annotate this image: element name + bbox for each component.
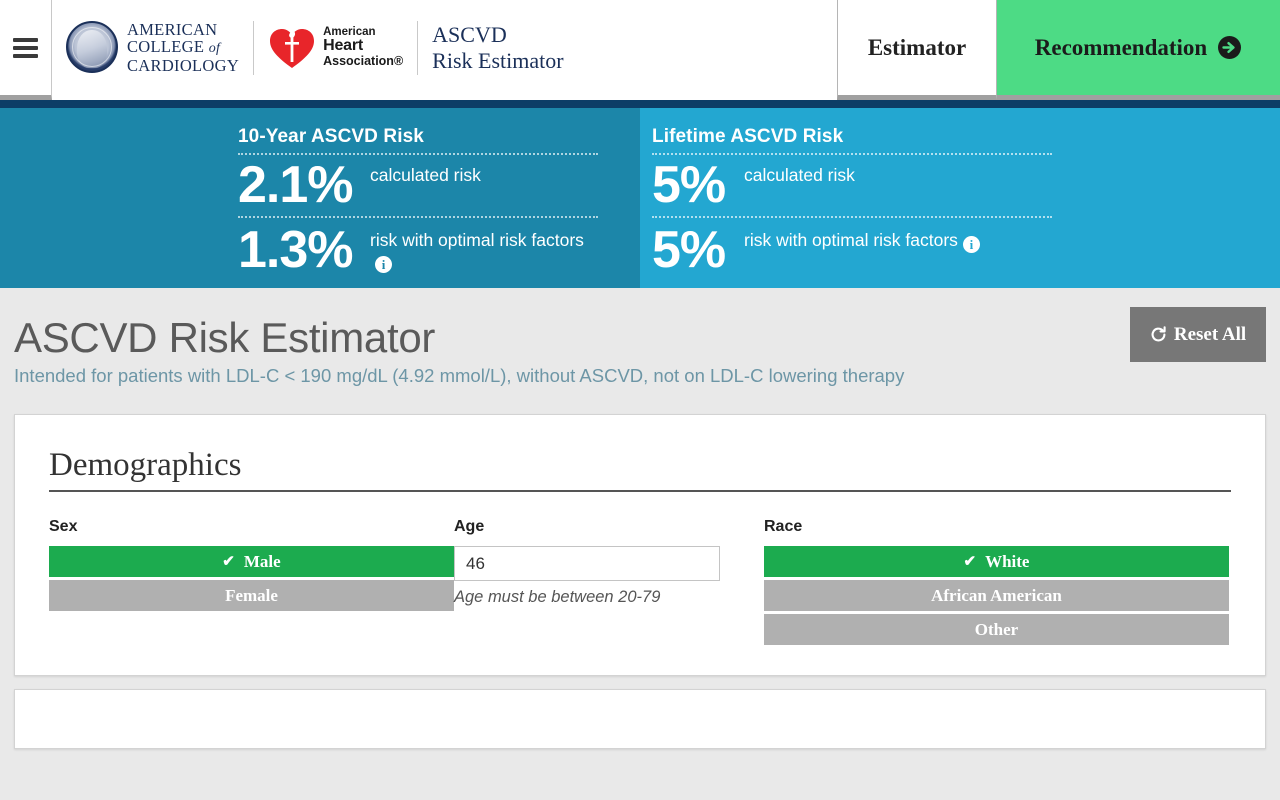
acc-line-3: CARDIOLOGY (127, 57, 239, 75)
age-label: Age (454, 518, 764, 546)
aha-logo-text: American Heart Association® (323, 26, 403, 68)
sex-option-male[interactable]: ✔ Male (49, 546, 454, 577)
ten-year-optimal-label: risk with optimal risk factors (370, 230, 584, 250)
page-subtitle: Intended for patients with LDL-C < 190 m… (14, 361, 1280, 387)
acc-line-2: COLLEGE of (127, 38, 239, 56)
race-option-white[interactable]: ✔ White (764, 546, 1229, 577)
race-field-group: Race ✔ White African American Other (764, 518, 1229, 645)
acc-logo: AMERICAN COLLEGE of CARDIOLOGY (66, 21, 239, 75)
tab-recommendation-label: Recommendation (1035, 35, 1207, 61)
brand-divider-1 (253, 21, 254, 75)
lifetime-calculated-label: calculated risk (744, 159, 855, 185)
age-help-text: Age must be between 20-79 (454, 581, 764, 607)
menu-button[interactable] (0, 0, 52, 100)
acc-line-2-of: of (209, 41, 221, 56)
tab-estimator[interactable]: Estimator (837, 0, 997, 100)
ten-year-calculated-row: 2.1% calculated risk (238, 155, 598, 218)
lifetime-optimal-label-wrap: risk with optimal risk factorsi (744, 224, 980, 253)
lifetime-calculated-row: 5% calculated risk (652, 155, 1052, 218)
lifetime-optimal-value: 5% (652, 224, 744, 276)
race-option-other[interactable]: Other (764, 614, 1229, 645)
product-line-2: Risk Estimator (432, 48, 563, 74)
demographics-section-title: Demographics (49, 447, 1231, 490)
lifetime-optimal-label: risk with optimal risk factors (744, 230, 958, 250)
acc-line-2-main: COLLEGE (127, 37, 209, 56)
demographics-card: Demographics Sex ✔ Male Female Age (14, 414, 1266, 676)
app-header: AMERICAN COLLEGE of CARDIOLOGY American … (0, 0, 1280, 100)
sex-field-group: Sex ✔ Male Female (49, 518, 454, 645)
brand-divider-2 (417, 21, 418, 75)
lifetime-optimal-row: 5% risk with optimal risk factorsi (652, 218, 1052, 281)
aha-logo: American Heart Association® (268, 26, 403, 70)
page-header: ASCVD Risk Estimator Intended for patien… (0, 288, 1280, 414)
header-tabs: Estimator Recommendation (837, 0, 1280, 100)
next-card-partial (14, 689, 1266, 749)
sex-option-male-label: Male (244, 552, 281, 572)
aha-line-2: Heart (323, 38, 403, 55)
lifetime-optimal-info-icon[interactable]: i (963, 236, 980, 253)
sex-label: Sex (49, 518, 454, 546)
acc-logo-text: AMERICAN COLLEGE of CARDIOLOGY (127, 21, 239, 75)
race-option-other-label: Other (975, 620, 1018, 640)
ten-year-optimal-row: 1.3% risk with optimal risk factorsi (238, 218, 598, 281)
acc-seal-icon (66, 21, 118, 73)
product-wordmark: ASCVD Risk Estimator (432, 22, 563, 74)
reset-all-label: Reset All (1174, 324, 1246, 346)
section-divider (49, 490, 1231, 492)
tab-estimator-label: Estimator (868, 35, 966, 61)
age-input[interactable] (454, 546, 720, 581)
check-icon: ✔ (964, 552, 977, 571)
sex-option-female-label: Female (225, 586, 278, 606)
lifetime-calculated-value: 5% (652, 159, 744, 211)
race-label: Race (764, 518, 1229, 546)
lifetime-risk-title: Lifetime ASCVD Risk (652, 126, 1052, 155)
refresh-icon (1150, 326, 1167, 343)
race-option-white-label: White (985, 552, 1029, 572)
lifetime-risk-panel: Lifetime ASCVD Risk 5% calculated risk 5… (640, 108, 1280, 288)
ten-year-risk-title: 10-Year ASCVD Risk (238, 126, 598, 155)
aha-heart-torch-icon (268, 26, 316, 70)
sex-option-group: ✔ Male Female (49, 546, 454, 611)
race-option-african-american-label: African American (931, 586, 1062, 606)
brand-area: AMERICAN COLLEGE of CARDIOLOGY American … (52, 0, 837, 100)
check-icon: ✔ (222, 552, 235, 571)
ten-year-optimal-label-wrap: risk with optimal risk factorsi (370, 224, 598, 273)
ten-year-optimal-value: 1.3% (238, 224, 370, 276)
arrow-circle-right-icon (1217, 35, 1242, 60)
navy-accent-strip (0, 100, 1280, 108)
age-field-group: Age Age must be between 20-79 (454, 518, 764, 645)
hamburger-icon (13, 34, 38, 62)
demographics-fields: Sex ✔ Male Female Age Age must be betwee… (49, 518, 1231, 645)
ten-year-calculated-label: calculated risk (370, 159, 481, 185)
tab-recommendation[interactable]: Recommendation (997, 0, 1280, 100)
product-line-1: ASCVD (432, 22, 563, 48)
race-option-african-american[interactable]: African American (764, 580, 1229, 611)
aha-line-3: Association® (323, 55, 403, 68)
risk-results-banner: 10-Year ASCVD Risk 2.1% calculated risk … (0, 108, 1280, 288)
ten-year-optimal-info-icon[interactable]: i (375, 256, 392, 273)
page-title: ASCVD Risk Estimator (14, 314, 1280, 361)
acc-line-1: AMERICAN (127, 21, 239, 39)
race-option-group: ✔ White African American Other (764, 546, 1229, 645)
ten-year-risk-panel: 10-Year ASCVD Risk 2.1% calculated risk … (0, 108, 640, 288)
ten-year-calculated-value: 2.1% (238, 159, 370, 211)
reset-all-button[interactable]: Reset All (1130, 307, 1266, 362)
sex-option-female[interactable]: Female (49, 580, 454, 611)
